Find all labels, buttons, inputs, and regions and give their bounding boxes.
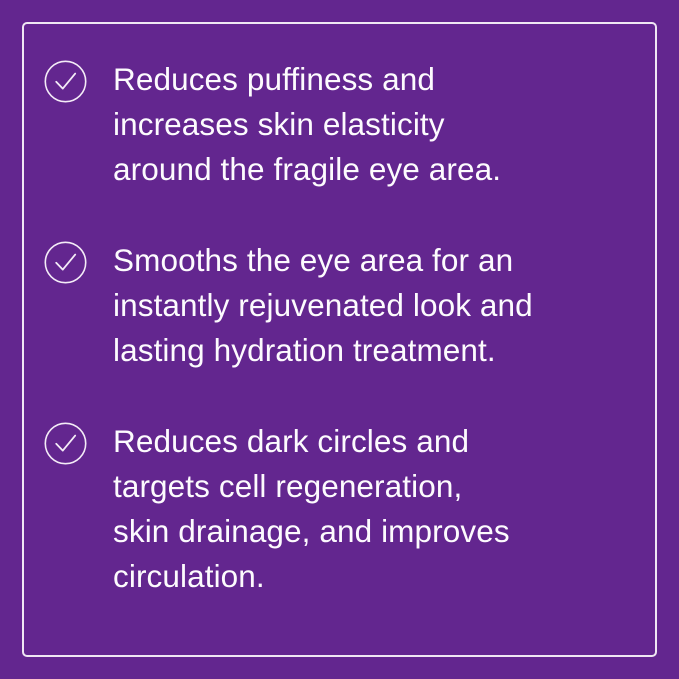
check-circle-icon [44, 241, 87, 284]
benefit-text: Smooths the eye area for an instantly re… [113, 238, 633, 373]
benefit-item-2: Smooths the eye area for an instantly re… [44, 238, 649, 373]
benefits-card: Reduces puffiness and increases skin ela… [0, 0, 679, 679]
check-circle-icon [44, 60, 87, 103]
check-circle-icon [44, 422, 87, 465]
benefit-text: Reduces puffiness and increases skin ela… [113, 57, 633, 192]
benefit-text: Reduces dark circles and targets cell re… [113, 419, 633, 599]
benefit-list: Reduces puffiness and increases skin ela… [0, 0, 679, 679]
benefit-item-3: Reduces dark circles and targets cell re… [44, 419, 649, 599]
benefit-item-1: Reduces puffiness and increases skin ela… [44, 57, 649, 192]
